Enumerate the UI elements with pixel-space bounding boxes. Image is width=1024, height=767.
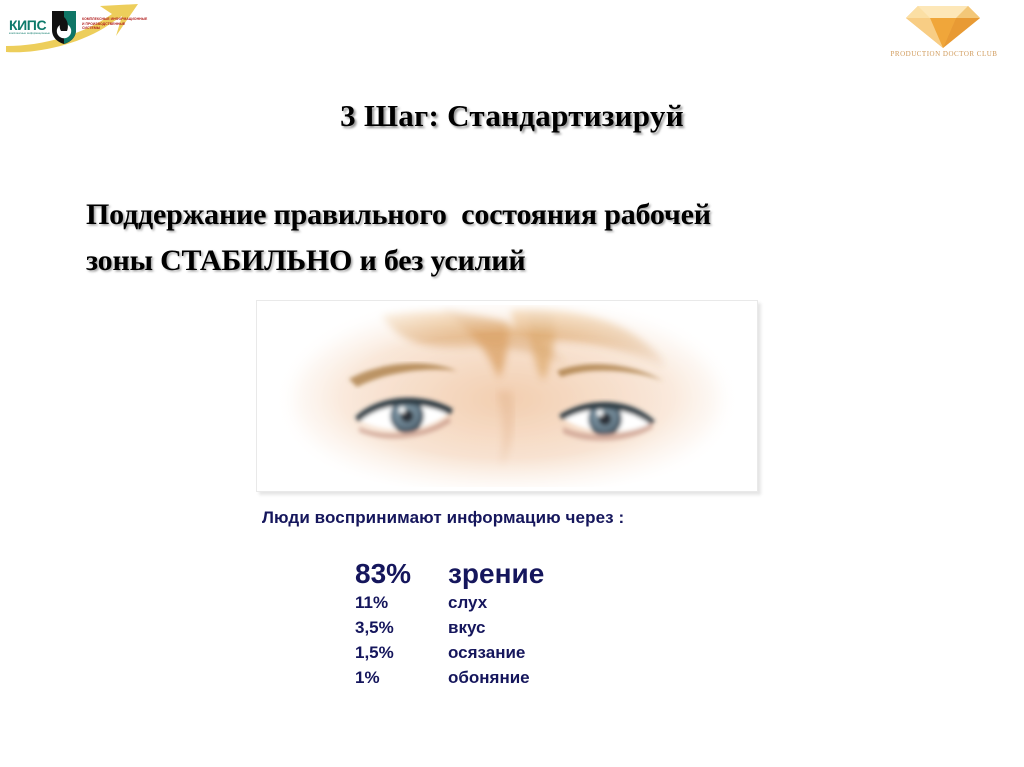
eyes-photo-frame: [256, 300, 758, 492]
stat-percent: 3,5%: [355, 618, 448, 638]
list-item: 1% обоняние: [355, 668, 544, 693]
production-doctor-club-text: PRODUCTION DOCTOR CLUB: [878, 50, 1010, 58]
stat-percent: 1%: [355, 668, 448, 688]
slide-canvas: КИПС комплексные информационные КОМПЛЕКС…: [0, 0, 1024, 767]
stat-percent: 1,5%: [355, 643, 448, 663]
kips-wordmark: КИПС: [9, 18, 46, 32]
stat-label: обоняние: [448, 668, 530, 688]
stat-label: зрение: [448, 558, 544, 590]
stat-label: осязание: [448, 643, 525, 663]
kips-descriptor-line-3: СИСТЕМЫ: [82, 26, 148, 31]
production-doctor-club-logo: PRODUCTION DOCTOR CLUB: [878, 4, 1010, 66]
subtitle-line-1: Поддержание правильного состояния рабоче…: [86, 192, 966, 238]
stat-percent: 83%: [355, 558, 448, 590]
eyes-photo-illustration: [261, 305, 753, 487]
stats-caption: Люди воспринимают информацию через :: [262, 508, 624, 528]
list-item: 3,5% вкус: [355, 618, 544, 643]
page-title: 3 Шаг: Стандартизируй: [0, 98, 1024, 134]
kips-subcaption: комплексные информационные: [9, 32, 50, 35]
stat-label: слух: [448, 593, 487, 613]
stat-label: вкус: [448, 618, 485, 638]
list-item: 11% слух: [355, 593, 544, 618]
list-item: 1,5% осязание: [355, 643, 544, 668]
subtitle-line-2: зоны СТАБИЛЬНО и без усилий: [86, 238, 966, 284]
subtitle: Поддержание правильного состояния рабоче…: [86, 192, 966, 284]
list-item: 83% зрение: [355, 558, 544, 593]
stat-percent: 11%: [355, 593, 448, 613]
eyes-photo: [261, 305, 753, 487]
kips-logo: КИПС комплексные информационные КОМПЛЕКС…: [4, 2, 154, 54]
perception-stats-list: 83% зрение 11% слух 3,5% вкус 1,5% осяза…: [355, 558, 544, 693]
kips-descriptor-line-1: КОМПЛЕКСНЫЕ ИНФОРМАЦИОННЫЕ: [82, 17, 148, 22]
kips-shield-icon: [50, 9, 78, 45]
kips-descriptor: КОМПЛЕКСНЫЕ ИНФОРМАЦИОННЫЕ И ПРОИЗВОДСТВ…: [82, 17, 148, 31]
diamond-gem-icon: [906, 4, 980, 48]
